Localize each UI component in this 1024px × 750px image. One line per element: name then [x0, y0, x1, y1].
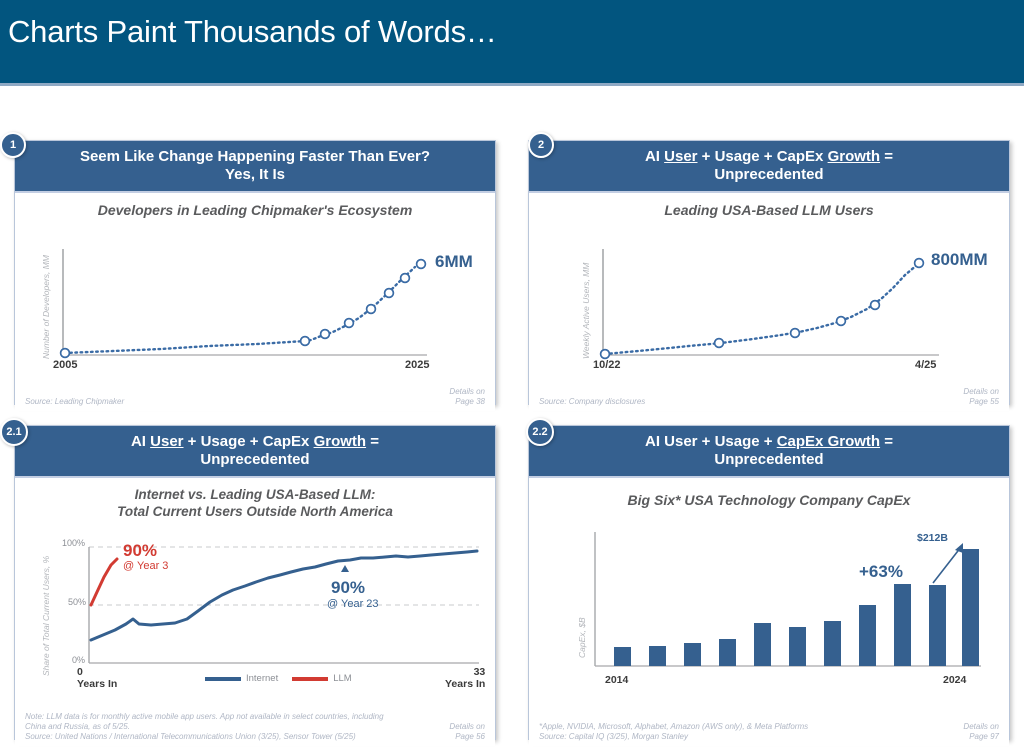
legend-swatch-llm — [292, 677, 328, 681]
panel-1-line-chart — [15, 233, 495, 373]
panel-1-header: Seem Like Change Happening Faster Than E… — [15, 141, 495, 193]
panel-21-details-ref: Details on Page 56 — [449, 722, 485, 742]
panel-1-title-line-1: Seem Like Change Happening Faster Than E… — [41, 148, 469, 166]
panel-22-growth-label: +63% — [859, 562, 903, 582]
panel-1-details-ref: Details on Page 38 — [449, 387, 485, 407]
panel-1-xtick-end: 2025 — [405, 359, 429, 371]
panel-chipmaker-developers[interactable]: Seem Like Change Happening Faster Than E… — [14, 140, 496, 405]
panel-22-title-line-2: Unprecedented — [555, 451, 983, 469]
legend-item-internet: Internet — [205, 673, 278, 684]
legend-swatch-internet — [205, 677, 241, 681]
panel-22-details-ref: Details on Page 97 — [963, 722, 999, 742]
banner-divider — [0, 83, 1024, 86]
panel-21-ytick-0: 0% — [72, 655, 85, 665]
panel-1-chart-subtitle: Developers in Leading Chipmaker's Ecosys… — [15, 193, 495, 218]
panel-21-xtick-start: 0 Years In — [77, 666, 117, 690]
panel-2-footer: Source: Company disclosures Details on P… — [529, 387, 1009, 412]
panel-21-title-line-2: Unprecedented — [41, 451, 469, 469]
legend-item-llm: LLM — [292, 673, 351, 684]
panel-21-source: Note: LLM data is for monthly active mob… — [25, 712, 384, 741]
panel-2-body: Leading USA-Based LLM Users Weekly Activ… — [529, 193, 1009, 411]
panel-22-xtick-end: 2024 — [943, 674, 966, 686]
panel-2-title-line-2: Unprecedented — [555, 166, 983, 184]
panel-2-source: Source: Company disclosures — [539, 397, 645, 407]
panel-22-bar-chart — [529, 526, 1009, 686]
panel-22-source: *Apple, NVIDIA, Microsoft, Alphabet, Ama… — [539, 722, 808, 742]
panel-22-chart-subtitle: Big Six* USA Technology Company CapEx — [529, 478, 1009, 508]
panel-22-xtick-start: 2014 — [605, 674, 628, 686]
panel-2-xtick-start: 10/22 — [593, 359, 621, 371]
panel-badge-2-2: 2.2 — [526, 418, 554, 446]
panel-21-ytick-50: 50% — [68, 597, 86, 607]
panel-1-xtick-start: 2005 — [53, 359, 77, 371]
panel-2-chart-subtitle: Leading USA-Based LLM Users — [529, 193, 1009, 218]
panel-22-title-line-1: AI User + Usage + CapEx Growth = — [555, 433, 983, 451]
panel-21-footer: Note: LLM data is for monthly active mob… — [15, 712, 495, 746]
panel-1-end-label: 6MM — [435, 252, 473, 272]
slide-banner: Charts Paint Thousands of Words… — [0, 0, 1024, 83]
panel-2-end-label: 800MM — [931, 250, 988, 270]
legend-label-llm: LLM — [333, 673, 351, 684]
panel-22-body: Big Six* USA Technology Company CapEx Ca… — [529, 478, 1009, 746]
panel-22-last-value-label: $212B — [917, 532, 948, 544]
panel-2-title-line-1: AI User + Usage + CapEx Growth = — [555, 148, 983, 166]
panel-21-llm-annotation-value: 90% — [123, 541, 157, 561]
panel-21-internet-annotation-sub: @ Year 23 — [327, 598, 379, 610]
panel-badge-2-1: 2.1 — [0, 418, 28, 446]
legend-label-internet: Internet — [246, 673, 278, 684]
slide-root: Charts Paint Thousands of Words… 1 Seem … — [0, 0, 1024, 750]
panel-21-xtick-end: 33 Years In — [445, 666, 485, 690]
panel-21-internet-annotation-value: 90% — [331, 578, 365, 598]
panel-21-legend: Internet LLM — [205, 673, 352, 684]
panel-21-ytick-100: 100% — [62, 538, 85, 548]
panel-22-header: AI User + Usage + CapEx Growth = Unprece… — [529, 426, 1009, 478]
panel-llm-users[interactable]: AI User + Usage + CapEx Growth = Unprece… — [528, 140, 1010, 405]
panel-internet-vs-llm[interactable]: AI User + Usage + CapEx Growth = Unprece… — [14, 425, 496, 740]
panel-21-chart-subtitle: Internet vs. Leading USA-Based LLM: Tota… — [15, 478, 495, 520]
panel-21-body: Internet vs. Leading USA-Based LLM: Tota… — [15, 478, 495, 746]
panel-1-title-line-2: Yes, It Is — [41, 166, 469, 184]
panel-22-footer: *Apple, NVIDIA, Microsoft, Alphabet, Ama… — [529, 722, 1009, 747]
panel-big-six-capex[interactable]: AI User + Usage + CapEx Growth = Unprece… — [528, 425, 1010, 740]
panel-badge-2: 2 — [528, 132, 554, 158]
panel-21-llm-annotation-sub: @ Year 3 — [123, 560, 168, 572]
panel-21-line-chart — [15, 533, 495, 683]
panel-2-xtick-end: 4/25 — [915, 359, 936, 371]
panel-1-body: Developers in Leading Chipmaker's Ecosys… — [15, 193, 495, 411]
panel-2-details-ref: Details on Page 55 — [963, 387, 999, 407]
panel-badge-1: 1 — [0, 132, 26, 158]
panel-2-header: AI User + Usage + CapEx Growth = Unprece… — [529, 141, 1009, 193]
panel-21-title-line-1: AI User + Usage + CapEx Growth = — [41, 433, 469, 451]
panel-1-footer: Source: Leading Chipmaker Details on Pag… — [15, 387, 495, 412]
page-title: Charts Paint Thousands of Words… — [8, 14, 497, 50]
panel-1-source: Source: Leading Chipmaker — [25, 397, 124, 407]
panel-21-header: AI User + Usage + CapEx Growth = Unprece… — [15, 426, 495, 478]
